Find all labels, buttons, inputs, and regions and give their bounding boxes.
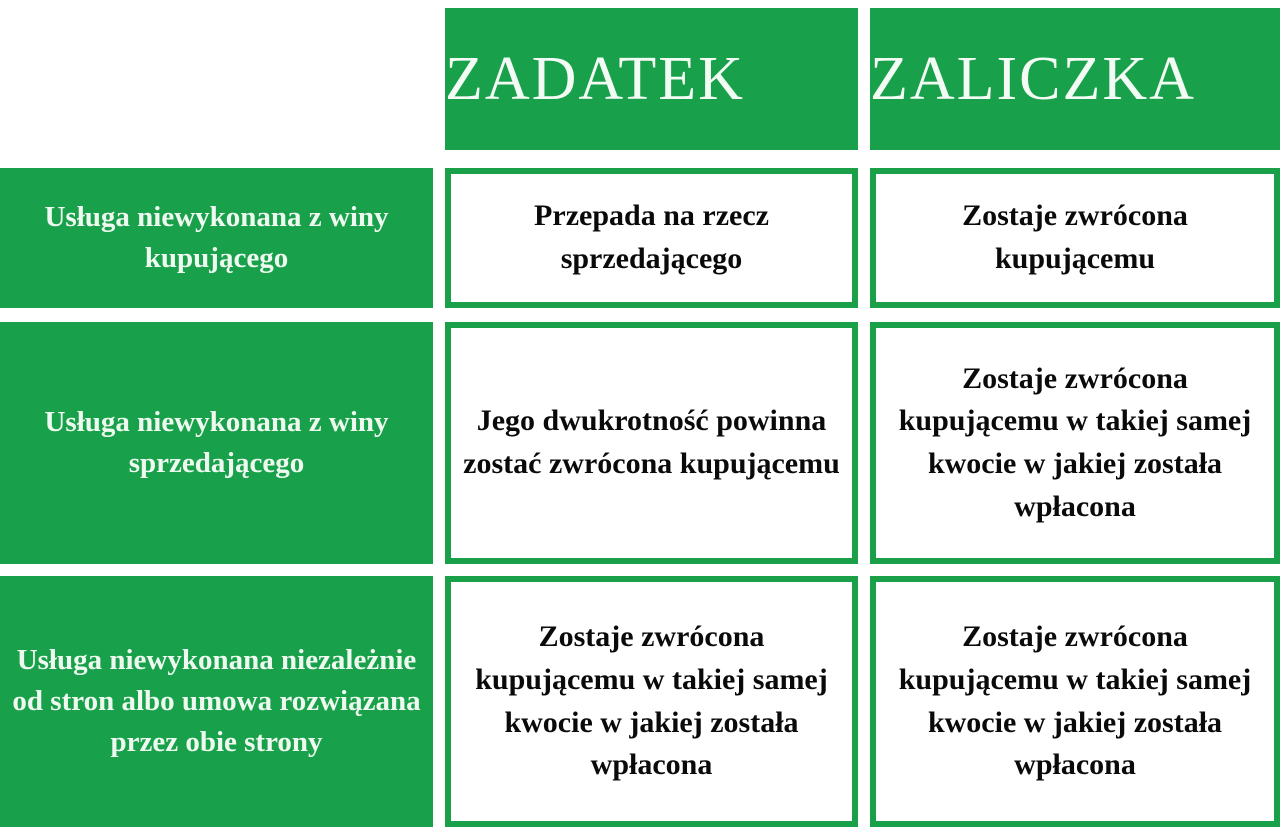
cell-niezaleznie-od-stron-zadatek: Zostaje zwrócona kupującemu w takiej sam… <box>445 576 858 827</box>
cell-wina-kupujacego-zaliczka: Zostaje zwrócona kupującemu <box>870 168 1280 308</box>
cell-wina-sprzedajacego-zadatek-text: Jego dwukrotność powinna zostać zwrócona… <box>461 400 842 485</box>
row-header-niezaleznie-od-stron-label: Usługa niewykonana niezależnie od stron … <box>12 640 421 764</box>
row-header-wina-kupujacego: Usługa niewykonana z winy kupującego <box>0 168 433 308</box>
row-header-wina-kupujacego-label: Usługa niewykonana z winy kupującego <box>12 197 421 279</box>
cell-wina-kupujacego-zadatek-text: Przepada na rzecz sprzedającego <box>461 195 842 280</box>
column-header-zaliczka-label: ZALICZKA <box>870 48 1280 110</box>
zadatek-zaliczka-comparison-table: ZADATEK ZALICZKA Usługa niewykonana z wi… <box>0 0 1280 827</box>
column-header-zadatek-label: ZADATEK <box>445 48 858 110</box>
cell-wina-sprzedajacego-zadatek: Jego dwukrotność powinna zostać zwrócona… <box>445 322 858 564</box>
cell-niezaleznie-od-stron-zaliczka: Zostaje zwrócona kupującemu w takiej sam… <box>870 576 1280 827</box>
column-header-zaliczka: ZALICZKA <box>870 8 1280 150</box>
cell-niezaleznie-od-stron-zadatek-text: Zostaje zwrócona kupującemu w takiej sam… <box>461 616 842 786</box>
cell-wina-kupujacego-zaliczka-text: Zostaje zwrócona kupującemu <box>886 195 1264 280</box>
row-header-niezaleznie-od-stron: Usługa niewykonana niezależnie od stron … <box>0 576 433 827</box>
row-header-wina-sprzedajacego-label: Usługa niewykonana z winy sprzedającego <box>12 402 421 484</box>
cell-niezaleznie-od-stron-zaliczka-text: Zostaje zwrócona kupującemu w takiej sam… <box>886 616 1264 786</box>
cell-wina-kupujacego-zadatek: Przepada na rzecz sprzedającego <box>445 168 858 308</box>
table-corner-blank <box>0 0 433 150</box>
row-header-wina-sprzedajacego: Usługa niewykonana z winy sprzedającego <box>0 322 433 564</box>
cell-wina-sprzedajacego-zaliczka-text: Zostaje zwrócona kupującemu w takiej sam… <box>886 358 1264 528</box>
cell-wina-sprzedajacego-zaliczka: Zostaje zwrócona kupującemu w takiej sam… <box>870 322 1280 564</box>
column-header-zadatek: ZADATEK <box>445 8 858 150</box>
